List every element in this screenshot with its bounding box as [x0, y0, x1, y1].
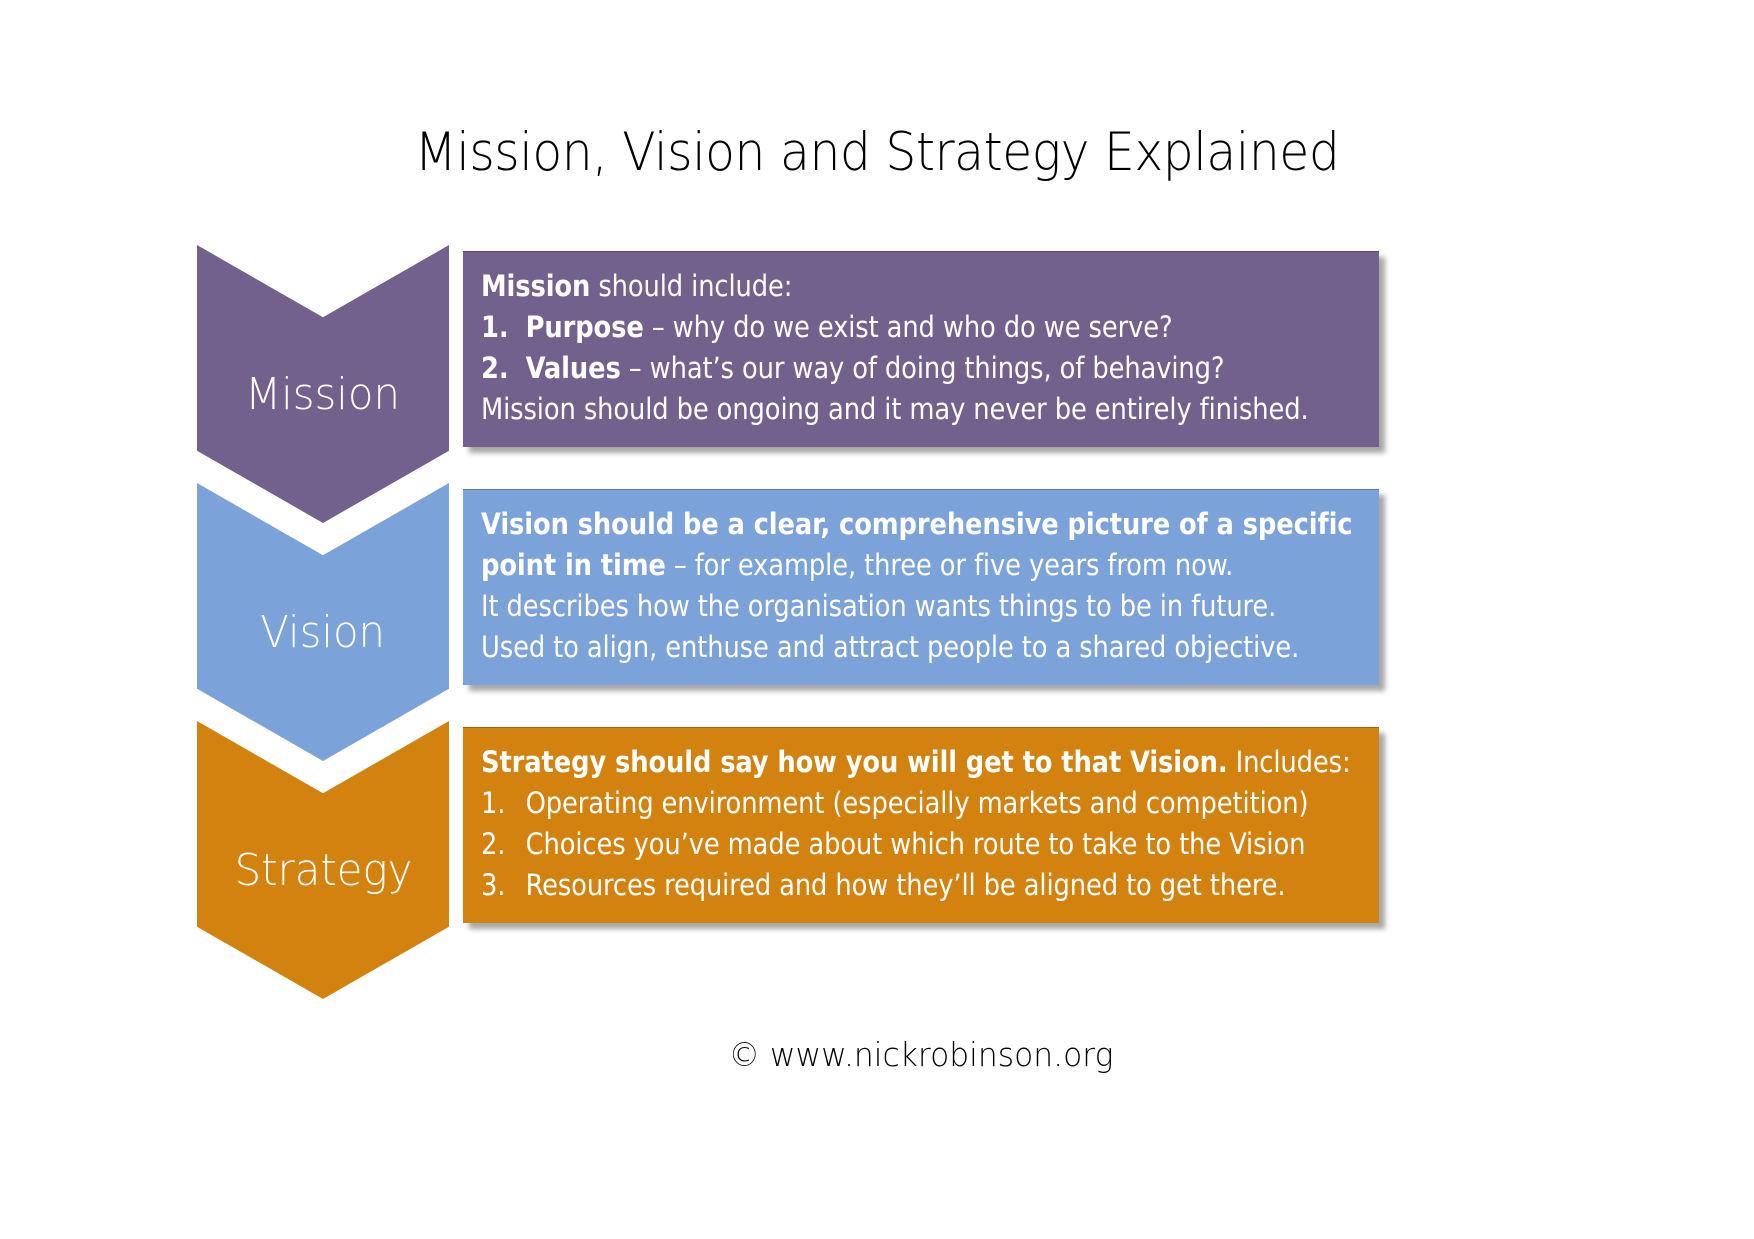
list-text: Values – what’s our way of doing things,…: [526, 348, 1225, 389]
panel-line-numbered: 1.Purpose – why do we exist and who do w…: [481, 307, 1337, 348]
chevron-mission: Mission: [197, 245, 449, 523]
panel-line: Mission should include:: [481, 266, 1337, 307]
list-number: 1.: [481, 783, 526, 824]
chevron-vision: Vision: [197, 483, 449, 761]
page-title: Mission, Vision and Strategy Explained: [70, 122, 1684, 183]
panel-line-numbered: 2.Choices you’ve made about which route …: [481, 824, 1337, 865]
panel-line: Vision should be a clear, comprehensive …: [481, 504, 1337, 545]
slide-canvas: Mission, Vision and Strategy Explained M…: [0, 0, 1754, 1239]
list-number: 2.: [481, 824, 526, 865]
list-text: Purpose – why do we exist and who do we …: [526, 307, 1173, 348]
chevron-mission-label: Mission: [246, 369, 401, 420]
copyright-footer: © www.nickrobinson.org: [486, 1035, 1356, 1074]
list-text: Choices you’ve made about which route to…: [526, 824, 1306, 865]
panel-line: point in time – for example, three or fi…: [481, 545, 1337, 586]
panel-line: It describes how the organisation wants …: [481, 586, 1337, 627]
chevron-strategy-label: Strategy: [234, 845, 412, 896]
chevron-vision-label: Vision: [261, 607, 386, 658]
panel-vision: Vision should be a clear, comprehensive …: [463, 489, 1379, 685]
panel-mission: Mission should include:1.Purpose – why d…: [463, 251, 1379, 447]
panel-line-numbered: 3.Resources required and how they’ll be …: [481, 865, 1337, 906]
list-number: 1.: [481, 307, 526, 348]
panel-line: Used to align, enthuse and attract peopl…: [481, 627, 1337, 668]
panel-line: Strategy should say how you will get to …: [481, 742, 1337, 783]
panel-line-numbered: 1.Operating environment (especially mark…: [481, 783, 1337, 824]
list-number: 3.: [481, 865, 526, 906]
list-text: Resources required and how they’ll be al…: [526, 865, 1286, 906]
list-text: Operating environment (especially market…: [526, 783, 1309, 824]
panel-line-numbered: 2.Values – what’s our way of doing thing…: [481, 348, 1337, 389]
panel-line: Mission should be ongoing and it may nev…: [481, 389, 1337, 430]
chevron-strategy: Strategy: [197, 721, 449, 999]
list-number: 2.: [481, 348, 526, 389]
panel-strategy: Strategy should say how you will get to …: [463, 727, 1379, 923]
